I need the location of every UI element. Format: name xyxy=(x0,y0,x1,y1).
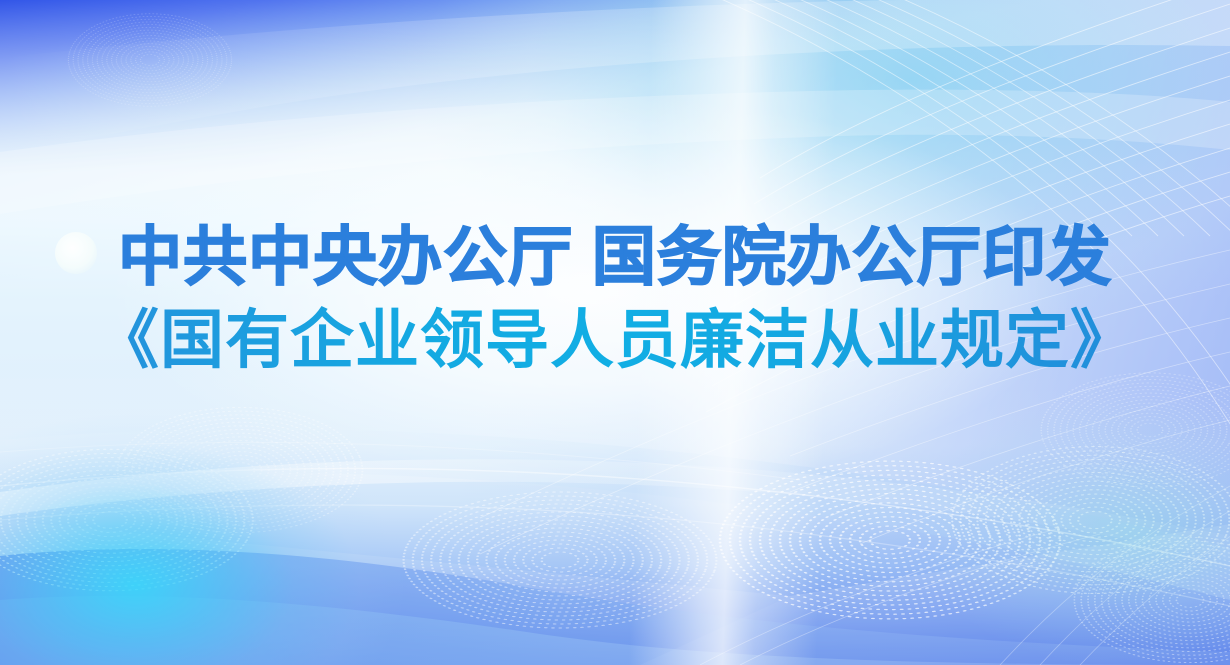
announcement-banner: 中共中央办公厅 国务院办公厅印发 《国有企业领导人员廉洁从业规定》 xyxy=(0,0,1230,665)
banner-title-line-1: 中共中央办公厅 国务院办公厅印发 xyxy=(0,216,1230,299)
banner-title: 中共中央办公厅 国务院办公厅印发 《国有企业领导人员廉洁从业规定》 xyxy=(0,216,1230,382)
banner-title-line-2: 《国有企业领导人员廉洁从业规定》 xyxy=(0,299,1230,382)
